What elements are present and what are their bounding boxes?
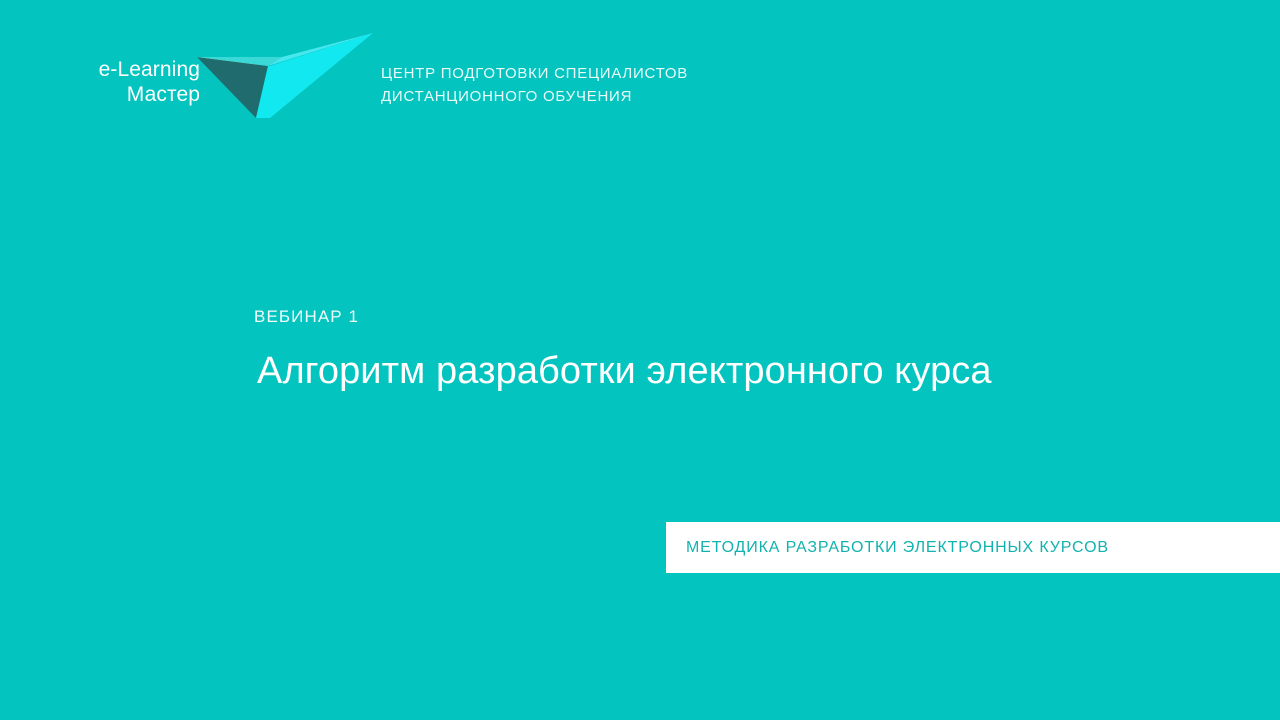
brand-subtitle-line-1: ЦЕНТР ПОДГОТОВКИ СПЕЦИАЛИСТОВ bbox=[381, 62, 688, 85]
course-banner: МЕТОДИКА РАЗРАБОТКИ ЭЛЕКТРОННЫХ КУРСОВ bbox=[666, 522, 1280, 573]
brand-subtitle: ЦЕНТР ПОДГОТОВКИ СПЕЦИАЛИСТОВ ДИСТАНЦИОН… bbox=[381, 62, 688, 108]
brand-subtitle-line-2: ДИСТАНЦИОННОГО ОБУЧЕНИЯ bbox=[381, 85, 688, 108]
brand-wordmark-line-1: e-Learning bbox=[30, 57, 200, 82]
course-banner-label: МЕТОДИКА РАЗРАБОТКИ ЭЛЕКТРОННЫХ КУРСОВ bbox=[666, 539, 1109, 557]
brand-wordmark-line-2: Мастер bbox=[30, 82, 200, 107]
title-block: ВЕБИНАР 1 Алгоритм разработки электронно… bbox=[254, 306, 1154, 419]
paper-plane-logo-icon bbox=[190, 26, 380, 126]
brand-header: e-Learning Мастер ЦЕНТР ПОДГОТОВКИ СПЕЦИ… bbox=[0, 0, 1280, 150]
title-slide: e-Learning Мастер ЦЕНТР ПОДГОТОВКИ СПЕЦИ… bbox=[0, 0, 1280, 720]
webinar-eyebrow: ВЕБИНАР 1 bbox=[254, 306, 1154, 328]
page-title: Алгоритм разработки электронного курса bbox=[257, 348, 1154, 394]
brand-wordmark: e-Learning Мастер bbox=[30, 57, 200, 107]
